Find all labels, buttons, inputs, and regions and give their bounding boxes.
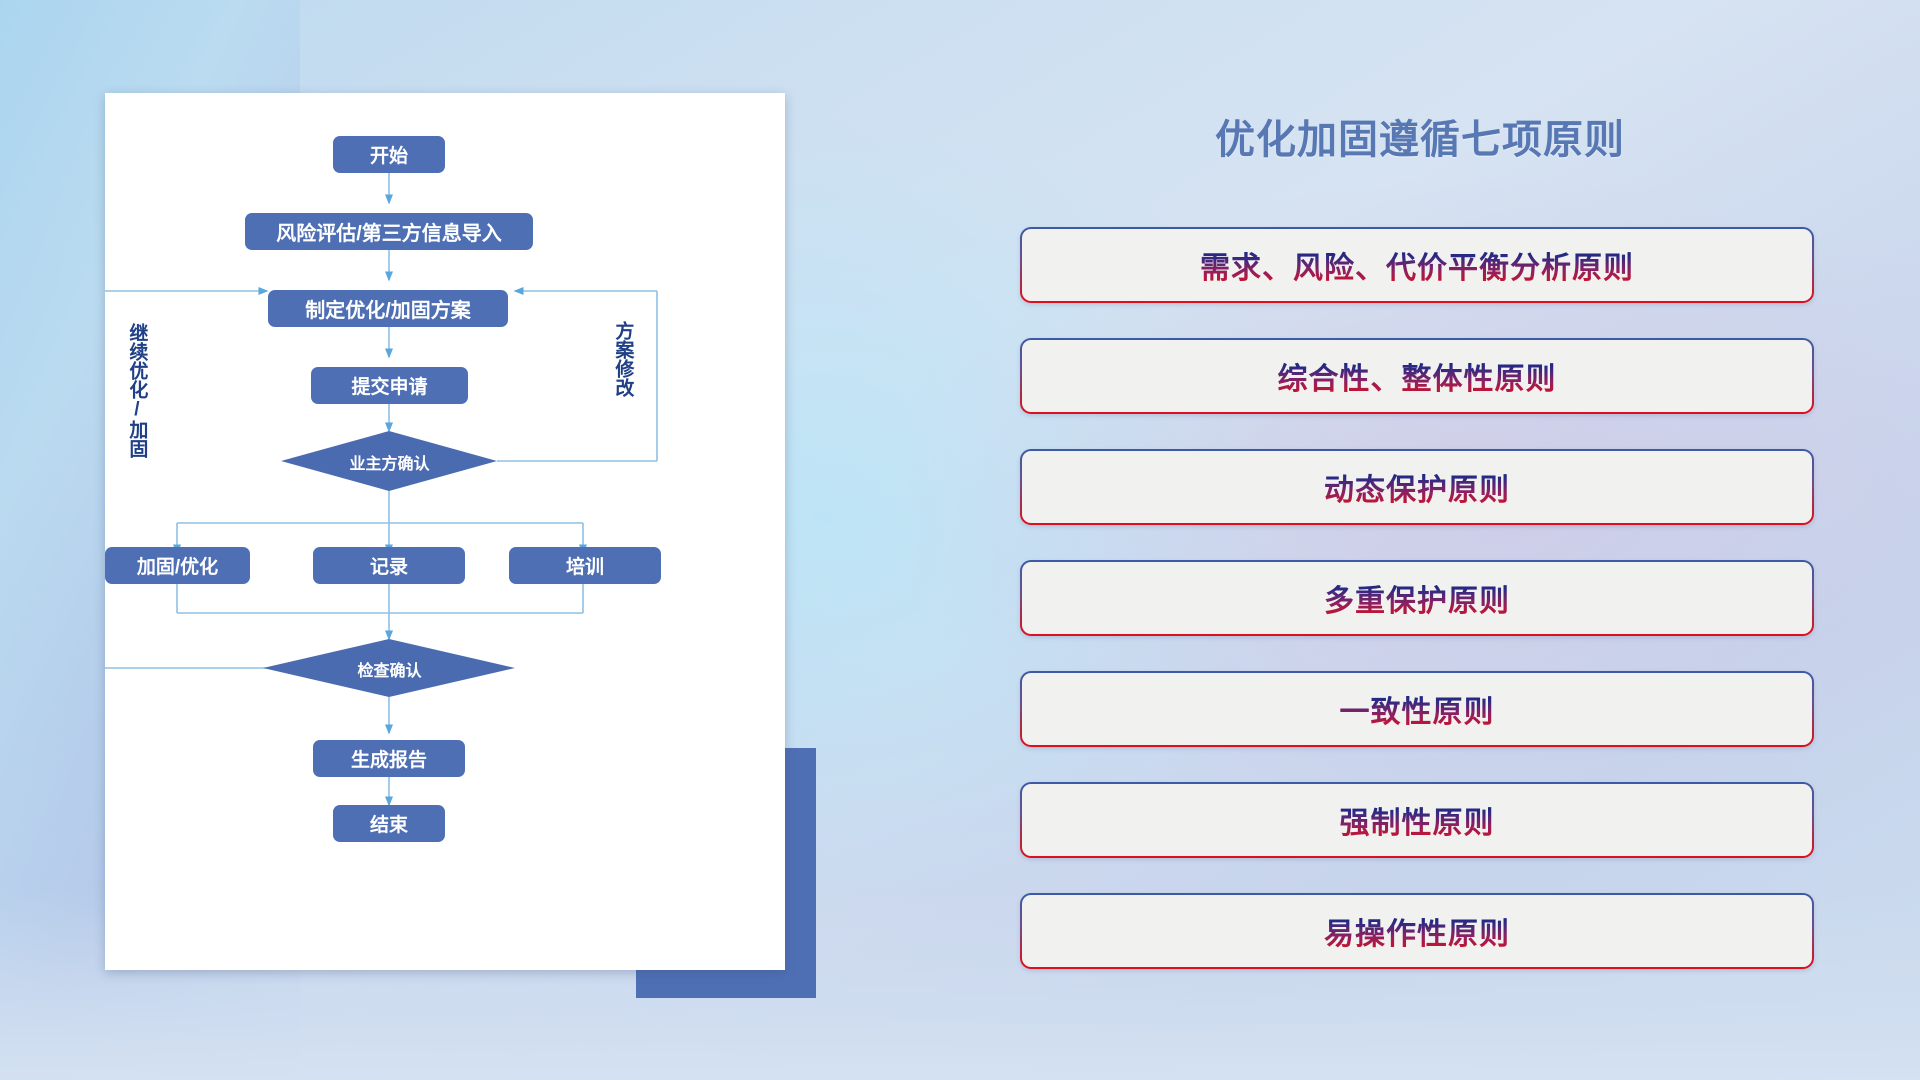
flow-node-plan (268, 290, 508, 327)
flow-edge-label-right-loop: 方案修改 (613, 321, 632, 431)
flow-node-submit (311, 367, 468, 404)
principle-label: 易操作性原则 (1324, 909, 1510, 953)
flowchart-connectors (105, 93, 785, 970)
principle-label: 一致性原则 (1340, 687, 1495, 731)
principle-label: 综合性、整体性原则 (1278, 354, 1557, 398)
flowchart-card: 开始 风险评估/第三方信息导入 制定优化/加固方案 提交申请 业主方确认 加固/… (105, 93, 785, 970)
principle-item-4[interactable]: 多重保护原则 (1020, 560, 1814, 636)
principle-label: 需求、风险、代价平衡分析原则 (1200, 243, 1634, 287)
principle-label: 动态保护原则 (1324, 465, 1510, 509)
flow-node-reinforce (105, 547, 250, 584)
flow-node-start (333, 136, 445, 173)
flow-node-check (263, 639, 515, 697)
panel-title: 优化加固遵循七项原则 (1020, 107, 1820, 165)
flow-node-owner (281, 431, 497, 491)
principle-item-2[interactable]: 综合性、整体性原则 (1020, 338, 1814, 414)
principle-item-1[interactable]: 需求、风险、代价平衡分析原则 (1020, 227, 1814, 303)
principle-item-7[interactable]: 易操作性原则 (1020, 893, 1814, 969)
principle-item-5[interactable]: 一致性原则 (1020, 671, 1814, 747)
principle-item-3[interactable]: 动态保护原则 (1020, 449, 1814, 525)
flow-node-record (313, 547, 465, 584)
flow-node-train (509, 547, 661, 584)
principle-item-6[interactable]: 强制性原则 (1020, 782, 1814, 858)
flow-edge-label-left-loop: 继续优化/加固 (127, 323, 146, 463)
flow-node-end (333, 805, 445, 842)
flow-node-report (313, 740, 465, 777)
principle-label: 多重保护原则 (1324, 576, 1510, 620)
flow-node-risk (245, 213, 533, 250)
principles-panel: 优化加固遵循七项原则 需求、风险、代价平衡分析原则 综合性、整体性原则 动态保护… (1020, 90, 1820, 1020)
principle-label: 强制性原则 (1340, 798, 1495, 842)
